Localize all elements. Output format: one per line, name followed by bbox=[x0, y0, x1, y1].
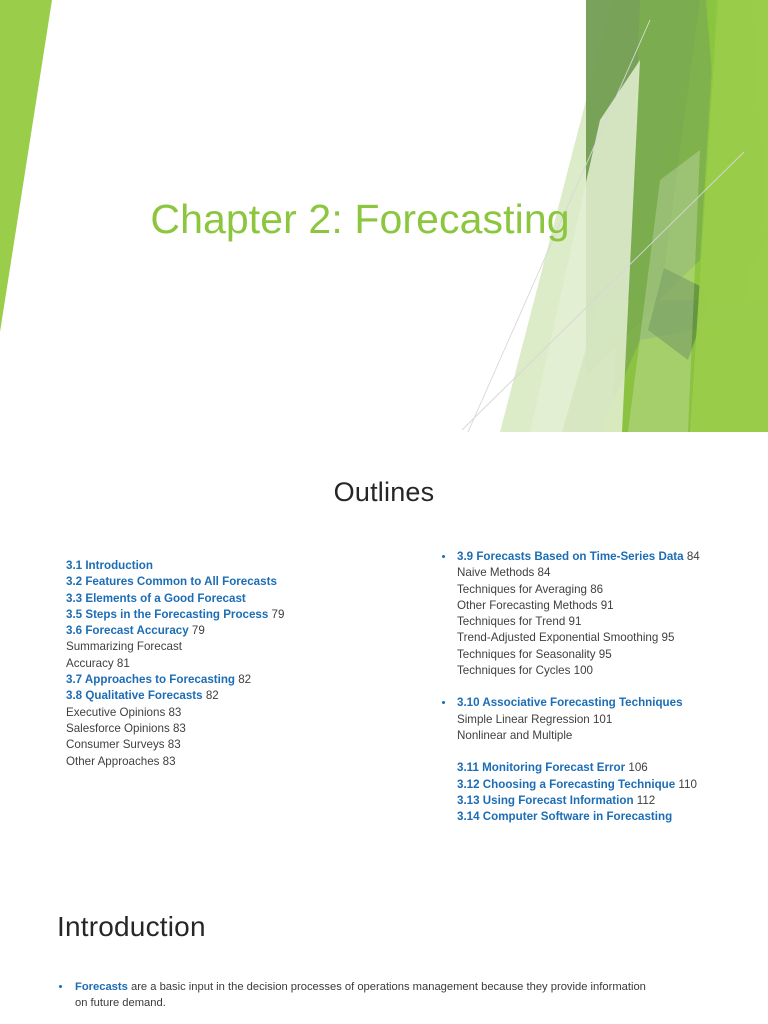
introduction-body-text: are a basic input in the decision proces… bbox=[75, 981, 646, 1009]
group-spacer bbox=[440, 679, 740, 695]
outline-heading-line: 3.5 Steps in the Forecasting Process 79 bbox=[66, 607, 396, 623]
outline-page-number: 106 bbox=[625, 761, 648, 774]
bullet-dot-icon bbox=[442, 701, 445, 704]
outline-page-number: 84 bbox=[684, 550, 700, 563]
outline-label: Simple Linear Regression 101 bbox=[457, 713, 612, 726]
presentation-page: Chapter 2: Forecasting Outlines 3.1 Intr… bbox=[0, 0, 768, 1024]
bullet-dot-icon bbox=[442, 555, 445, 558]
outline-heading-line: 3.2 Features Common to All Forecasts bbox=[66, 574, 396, 590]
outline-sub-line: Techniques for Cycles 100 bbox=[457, 663, 740, 679]
outline-label: 3.6 Forecast Accuracy bbox=[66, 624, 189, 637]
outline-label: 3.12 Choosing a Forecasting Technique bbox=[457, 778, 675, 791]
outline-group: 3.9 Forecasts Based on Time-Series Data … bbox=[440, 549, 740, 679]
outlines-left-column: 3.1 Introduction3.2 Features Common to A… bbox=[66, 558, 396, 770]
outline-page-number: 110 bbox=[675, 778, 697, 791]
outline-label: 3.7 Approaches to Forecasting bbox=[66, 673, 235, 686]
outline-page-number: 112 bbox=[634, 794, 656, 807]
deco-left-triangle bbox=[0, 0, 52, 332]
outline-heading-line: 3.9 Forecasts Based on Time-Series Data … bbox=[457, 549, 740, 565]
outlines-right-column: 3.9 Forecasts Based on Time-Series Data … bbox=[440, 549, 740, 825]
introduction-keyword: Forecasts bbox=[75, 981, 128, 993]
outline-sub-line: Other Approaches 83 bbox=[66, 754, 396, 770]
outline-sub-line: Summarizing Forecast bbox=[66, 639, 396, 655]
outline-sub-line: Accuracy 81 bbox=[66, 656, 396, 672]
outline-label: Consumer Surveys 83 bbox=[66, 738, 181, 751]
outline-sub-line: Salesforce Opinions 83 bbox=[66, 721, 396, 737]
outline-heading-line: 3.3 Elements of a Good Forecast bbox=[66, 591, 396, 607]
outline-sub-line: Executive Opinions 83 bbox=[66, 705, 396, 721]
outline-sub-line: Techniques for Seasonality 95 bbox=[457, 647, 740, 663]
outline-label: 3.10 Associative Forecasting Techniques bbox=[457, 696, 683, 709]
outline-label: Summarizing Forecast bbox=[66, 640, 182, 653]
outline-heading-line: 3.12 Choosing a Forecasting Technique 11… bbox=[457, 777, 740, 793]
outline-sub-line: Trend-Adjusted Exponential Smoothing 95 bbox=[457, 630, 740, 646]
outline-label: Other Forecasting Methods 91 bbox=[457, 599, 614, 612]
outline-sub-line: Nonlinear and Multiple bbox=[457, 728, 740, 744]
outline-label: 3.14 Computer Software in Forecasting bbox=[457, 810, 672, 823]
outline-heading-line: 3.6 Forecast Accuracy 79 bbox=[66, 623, 396, 639]
outlines-heading: Outlines bbox=[0, 477, 768, 508]
outline-sub-line: Naive Methods 84 bbox=[457, 565, 740, 581]
introduction-heading: Introduction bbox=[57, 911, 206, 943]
outline-label: Techniques for Cycles 100 bbox=[457, 664, 593, 677]
outline-page-number: 79 bbox=[268, 608, 284, 621]
outline-label: Nonlinear and Multiple bbox=[457, 729, 572, 742]
outline-sub-line: Simple Linear Regression 101 bbox=[457, 712, 740, 728]
outline-sub-line: Consumer Surveys 83 bbox=[66, 737, 396, 753]
outline-label: 3.3 Elements of a Good Forecast bbox=[66, 592, 246, 605]
outline-heading-line: 3.13 Using Forecast Information 112 bbox=[457, 793, 740, 809]
bullet-dot-icon bbox=[59, 985, 62, 988]
outline-label: Trend-Adjusted Exponential Smoothing 95 bbox=[457, 631, 674, 644]
outline-page-number: 82 bbox=[203, 689, 219, 702]
slide-title-text: Chapter 2: Forecasting bbox=[0, 196, 720, 243]
outline-label: Techniques for Trend 91 bbox=[457, 615, 581, 628]
outline-heading-line: 3.10 Associative Forecasting Techniques bbox=[457, 695, 740, 711]
outline-label: Accuracy 81 bbox=[66, 657, 130, 670]
outline-heading-line: 3.7 Approaches to Forecasting 82 bbox=[66, 672, 396, 688]
outline-heading-line: 3.11 Monitoring Forecast Error 106 bbox=[457, 760, 740, 776]
outline-group: 3.11 Monitoring Forecast Error 1063.12 C… bbox=[440, 760, 740, 825]
outline-label: 3.13 Using Forecast Information bbox=[457, 794, 634, 807]
introduction-bullet: Forecasts are a basic input in the decis… bbox=[57, 980, 657, 1011]
outline-sub-line: Other Forecasting Methods 91 bbox=[457, 598, 740, 614]
outline-label: Naive Methods 84 bbox=[457, 566, 550, 579]
outline-label: 3.5 Steps in the Forecasting Process bbox=[66, 608, 268, 621]
outline-label: Executive Opinions 83 bbox=[66, 706, 181, 719]
outline-group: 3.10 Associative Forecasting TechniquesS… bbox=[440, 695, 740, 744]
outline-label: 3.1 Introduction bbox=[66, 559, 153, 572]
outline-label: Salesforce Opinions 83 bbox=[66, 722, 186, 735]
outline-page-number: 79 bbox=[189, 624, 205, 637]
outline-label: Techniques for Averaging 86 bbox=[457, 583, 603, 596]
group-spacer bbox=[440, 744, 740, 760]
outline-label: 3.2 Features Common to All Forecasts bbox=[66, 575, 277, 588]
outline-page-number: 82 bbox=[235, 673, 251, 686]
outline-heading-line: 3.1 Introduction bbox=[66, 558, 396, 574]
outline-heading-line: 3.8 Qualitative Forecasts 82 bbox=[66, 688, 396, 704]
outline-label: 3.8 Qualitative Forecasts bbox=[66, 689, 203, 702]
outline-label: 3.9 Forecasts Based on Time-Series Data bbox=[457, 550, 684, 563]
outline-heading-line: 3.14 Computer Software in Forecasting bbox=[457, 809, 740, 825]
title-slide: Chapter 2: Forecasting bbox=[0, 0, 768, 432]
outline-label: Other Approaches 83 bbox=[66, 755, 176, 768]
outline-sub-line: Techniques for Averaging 86 bbox=[457, 582, 740, 598]
outline-sub-line: Techniques for Trend 91 bbox=[457, 614, 740, 630]
outline-label: Techniques for Seasonality 95 bbox=[457, 648, 612, 661]
outline-label: 3.11 Monitoring Forecast Error bbox=[457, 761, 625, 774]
